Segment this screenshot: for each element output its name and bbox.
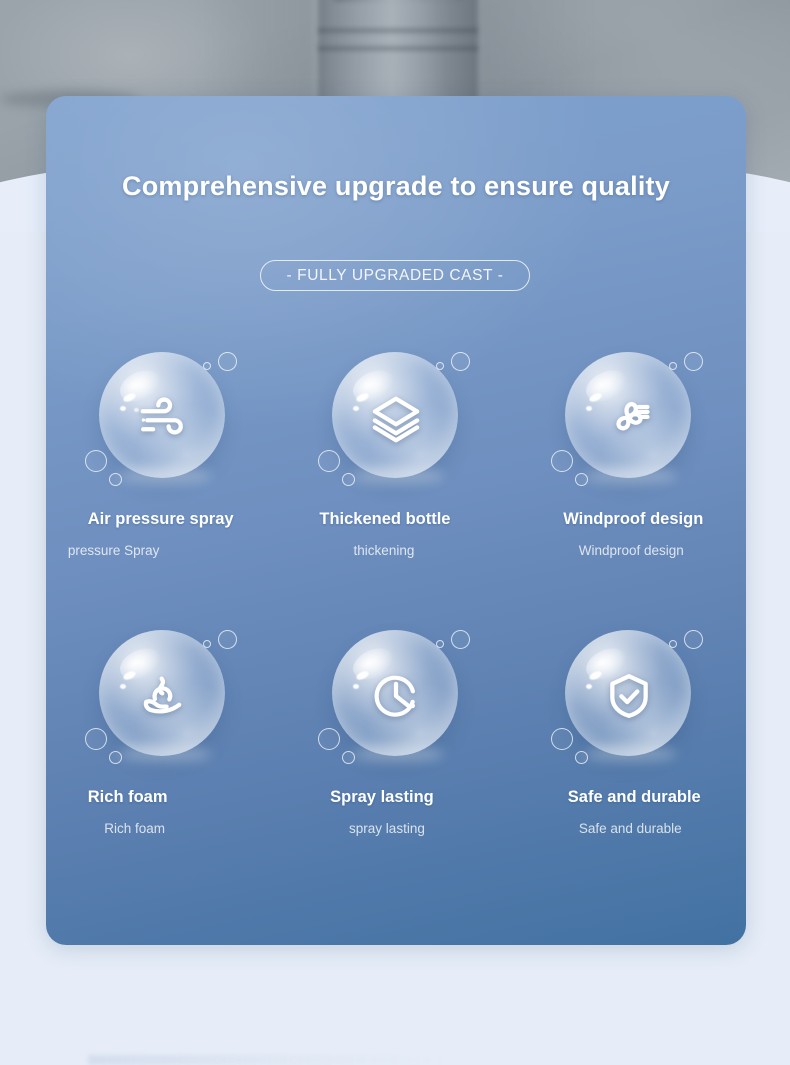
product-feature-page: Comprehensive upgrade to ensure quality … [0, 0, 790, 1065]
feature-subtitle: spray lasting [270, 821, 503, 836]
bubble-safe-and-durable [559, 626, 699, 766]
bubble-thickened-bottle [326, 348, 466, 488]
feature-subtitle: thickening [267, 543, 500, 558]
bubble-air-pressure-spray [93, 348, 233, 488]
page-title: Comprehensive upgrade to ensure quality [46, 171, 746, 202]
bubble-spray-lasting [326, 626, 466, 766]
feature-subtitle: Windproof design [515, 543, 746, 558]
feature-item-spray-lasting[interactable]: Spray lasting spray lasting [279, 626, 512, 904]
clock-icon [326, 626, 466, 766]
feature-title: Windproof design [517, 510, 746, 529]
feature-subtitle: Safe and durable [514, 821, 746, 836]
photo-can-ring-upper [318, 28, 478, 33]
photo-can-ring-lower [318, 46, 478, 51]
feature-card: Comprehensive upgrade to ensure quality … [46, 96, 746, 945]
feature-title: Air pressure spray [46, 510, 277, 529]
feature-item-windproof-design[interactable]: Windproof design Windproof design [513, 348, 746, 626]
bubble-windproof-design [559, 348, 699, 488]
foam-hand-icon [93, 626, 233, 766]
feature-row-1: Air pressure spray pressure Spray [46, 348, 746, 626]
feature-item-safe-and-durable[interactable]: Safe and durable Safe and durable [513, 626, 746, 904]
footer-content-hint [88, 1055, 448, 1065]
feature-item-rich-foam[interactable]: Rich foam Rich foam [46, 626, 279, 904]
feature-grid: Air pressure spray pressure Spray [46, 348, 746, 904]
wind-icon [93, 348, 233, 488]
fan-icon [559, 348, 699, 488]
shield-check-icon [559, 626, 699, 766]
feature-row-2: Rich foam Rich foam [46, 626, 746, 904]
feature-item-air-pressure-spray[interactable]: Air pressure spray pressure Spray [46, 348, 279, 626]
layers-icon [326, 348, 466, 488]
feature-subtitle: Rich foam [46, 821, 251, 836]
photo-can-cap [332, 0, 464, 2]
feature-title: Thickened bottle [268, 510, 501, 529]
feature-subtitle: pressure Spray [46, 543, 230, 558]
upgrade-badge: - FULLY UPGRADED CAST - [260, 260, 530, 291]
feature-title: Spray lasting [265, 788, 498, 807]
feature-title: Rich foam [46, 788, 244, 807]
feature-title: Safe and durable [518, 788, 746, 807]
feature-item-thickened-bottle[interactable]: Thickened bottle thickening [279, 348, 512, 626]
bubble-rich-foam [93, 626, 233, 766]
